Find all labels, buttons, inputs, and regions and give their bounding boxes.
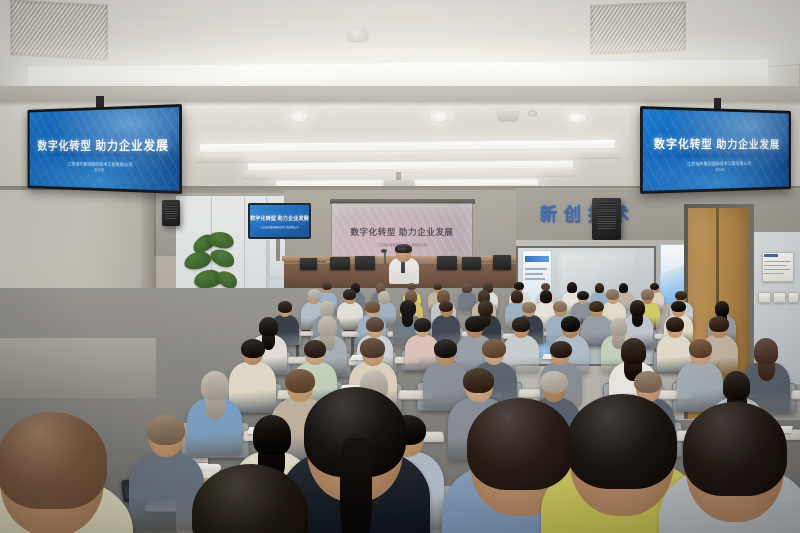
attendee-hair — [621, 338, 646, 364]
attendee-hair — [366, 317, 384, 332]
attendee-hair — [577, 291, 589, 300]
attendee-hair — [308, 289, 321, 300]
attendee-body — [229, 362, 276, 411]
projection-subtitle-2: 财务部 — [332, 247, 472, 251]
attendee-hair — [514, 282, 524, 290]
attendee-braid — [340, 438, 373, 533]
attendee-hair — [641, 289, 654, 299]
attendee-hair — [675, 291, 687, 300]
attendee-hair — [201, 371, 229, 400]
attendee-hair — [630, 300, 646, 316]
attendee-hair-foreground — [467, 398, 573, 490]
attendee-hair — [540, 371, 568, 393]
audience-area — [0, 0, 800, 533]
attendee-hair — [253, 415, 291, 455]
attendee-hair — [511, 290, 524, 303]
attendee-hair-foreground — [567, 394, 677, 489]
attendee-hair — [754, 338, 778, 363]
attendee-hair — [634, 371, 662, 393]
attendee-hair — [285, 369, 315, 393]
attendee-hair — [482, 339, 505, 358]
attendee-hair — [465, 316, 484, 331]
attendee-hair — [540, 290, 552, 302]
attendee-hair — [666, 317, 684, 331]
attendee-hair — [723, 371, 751, 400]
attendee-hair — [278, 301, 292, 312]
attendee-hair — [595, 283, 605, 293]
attendee-hair — [610, 318, 628, 337]
attendee-hair-foreground — [0, 412, 107, 509]
attendee-hair — [715, 301, 730, 316]
attendee-hair — [512, 317, 531, 332]
attendee-hair — [147, 415, 185, 445]
attendee-hair — [619, 283, 628, 293]
attendee-hair — [414, 318, 431, 332]
attendee-hair — [606, 289, 619, 300]
attendee-hair — [320, 301, 334, 316]
attendee-hair — [259, 317, 278, 336]
attendee-hair — [241, 339, 265, 358]
attendee-hair — [360, 338, 384, 358]
display-title: 数字化转型 助力企业发展 — [250, 215, 309, 222]
attendee-hair — [322, 282, 332, 290]
attendee-hair — [478, 300, 494, 316]
attendee-hair — [589, 301, 604, 313]
attendee-hair — [434, 339, 457, 358]
tablet-arm-desk — [790, 390, 800, 399]
attendee-hair-foreground — [683, 402, 787, 495]
attendee-hair — [671, 301, 686, 313]
attendee-hair — [463, 368, 494, 393]
attendee-hair — [400, 300, 415, 316]
projection-title: 数字化转型 助力企业发展 — [332, 226, 472, 238]
attendee-hair — [567, 282, 577, 293]
attendee-hair — [343, 289, 356, 299]
attendee-hair — [462, 283, 471, 293]
attendee-hair — [378, 291, 390, 303]
display-subtitle: 江苏海外集团国际技术工程有限公司 — [250, 225, 309, 229]
attendee-hair — [550, 341, 572, 358]
attendee-hair — [709, 316, 729, 332]
attendee-hair — [689, 339, 712, 358]
attendee-hair — [365, 301, 379, 312]
attendee-hair — [522, 302, 536, 313]
seminar-room-photo: 新 创 技 术 数字化转型 助力企业发展 江苏海外集团国际技术工程有限公司 财务… — [0, 0, 800, 533]
attendee-hair — [304, 340, 326, 358]
attendee-hair — [318, 316, 338, 337]
attendee-hair — [561, 316, 580, 331]
